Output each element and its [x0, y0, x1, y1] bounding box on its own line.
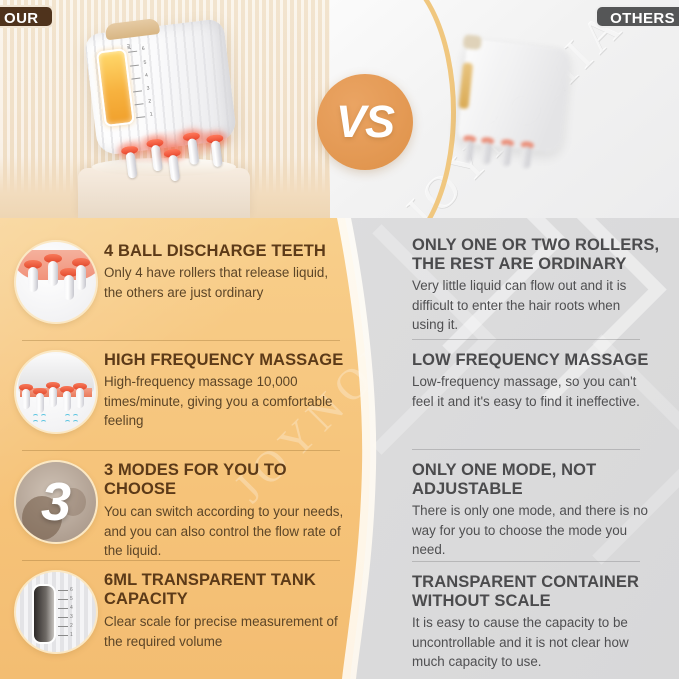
row-divider: [22, 450, 340, 451]
comparison-body: JOYNOMIA 4 BALL DISCHARGE TEETH Only 4 h…: [0, 218, 679, 679]
scale-tick-label: 2: [148, 98, 151, 104]
our-feature-body: Only 4 have rollers that release liquid,…: [104, 263, 349, 302]
scale-tick-label: 1: [150, 111, 153, 117]
our-feature-body: You can switch according to your needs, …: [104, 502, 352, 561]
others-feature-title: ONLY ONE OR TWO ROLLERS, THE REST ARE OR…: [412, 236, 662, 274]
others-feature-title: TRANSPARENT CONTAINER WITHOUT SCALE: [412, 573, 662, 611]
others-feature-body: Very little liquid can flow out and it i…: [412, 276, 652, 335]
comparison-infographic: JOYNOMIA ml 6 5 4 3 2 1: [0, 0, 679, 679]
others-feature-title: LOW FREQUENCY MASSAGE: [412, 351, 667, 370]
our-feature-title: 4 BALL DISCHARGE TEETH: [104, 242, 352, 261]
scale-tick-label: 6: [142, 46, 145, 52]
scale-tick-label: 5: [143, 60, 146, 66]
our-badge: OUR: [0, 5, 54, 28]
our-feature-title: 6ML TRANSPARENT TANK CAPACITY: [104, 571, 344, 609]
discharge-teeth-icon: [14, 240, 98, 324]
row-divider: [22, 560, 340, 561]
others-feature-body: Low-frequency massage, so you can't feel…: [412, 372, 652, 411]
row-divider: [22, 340, 340, 341]
three-modes-icon: 3: [14, 460, 98, 544]
scale-tick-label: 4: [145, 73, 148, 79]
our-feature-list: 4 BALL DISCHARGE TEETH Only 4 have rolle…: [0, 218, 360, 679]
our-feature-body: High-frequency massage 10,000 times/minu…: [104, 372, 352, 431]
scale-tick-label: 3: [146, 85, 149, 91]
mode-count-label: 3: [16, 462, 96, 542]
our-feature-title: 3 MODES FOR YOU TO CHOOSE: [104, 461, 344, 499]
row-divider: [412, 449, 640, 450]
others-feature-body: There is only one mode, and there is no …: [412, 501, 652, 560]
our-feature-body: Clear scale for precise measurement of t…: [104, 612, 352, 651]
scale-unit-label: ml: [125, 44, 132, 50]
high-frequency-massage-icon: [14, 350, 98, 434]
our-product-image: ml 6 5 4 3 2 1: [75, 9, 249, 187]
tank-capacity-icon: 6 5 4 3 2 1: [14, 570, 98, 654]
row-divider: [412, 339, 640, 340]
others-product-image: [449, 34, 582, 176]
others-feature-title: ONLY ONE MODE, NOT ADJUSTABLE: [412, 461, 642, 499]
vs-label: VS: [317, 74, 413, 170]
others-badge: OTHERS: [595, 5, 679, 28]
row-divider: [412, 561, 640, 562]
others-feature-list: ONLY ONE OR TWO ROLLERS, THE REST ARE OR…: [392, 218, 679, 679]
others-feature-body: It is easy to cause the capacity to be u…: [412, 613, 652, 672]
others-device-cap: [463, 34, 482, 50]
vs-badge: VS: [317, 74, 413, 170]
our-feature-title: HIGH FREQUENCY MASSAGE: [104, 351, 354, 370]
